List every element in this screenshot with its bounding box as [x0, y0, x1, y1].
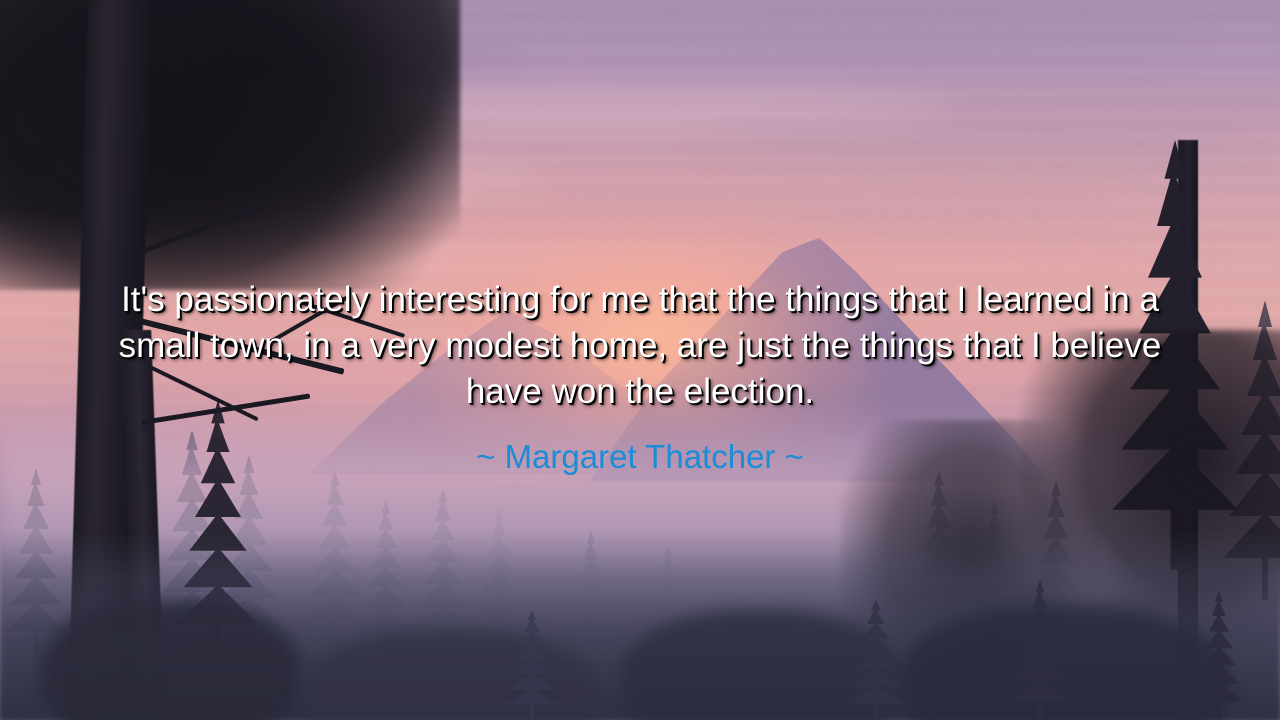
left-canopy-mass	[0, 0, 460, 290]
quote-attribution: ~ Margaret Thatcher ~	[0, 437, 1280, 477]
floor-blob-1	[40, 600, 300, 720]
cloud-band-2	[576, 14, 1190, 57]
quote-container: It's passionately interesting for me tha…	[0, 277, 1280, 415]
quote-image-canvas: It's passionately interesting for me tha…	[0, 0, 1280, 720]
quote-text: It's passionately interesting for me tha…	[100, 277, 1180, 415]
floor-blob-3	[620, 610, 900, 720]
